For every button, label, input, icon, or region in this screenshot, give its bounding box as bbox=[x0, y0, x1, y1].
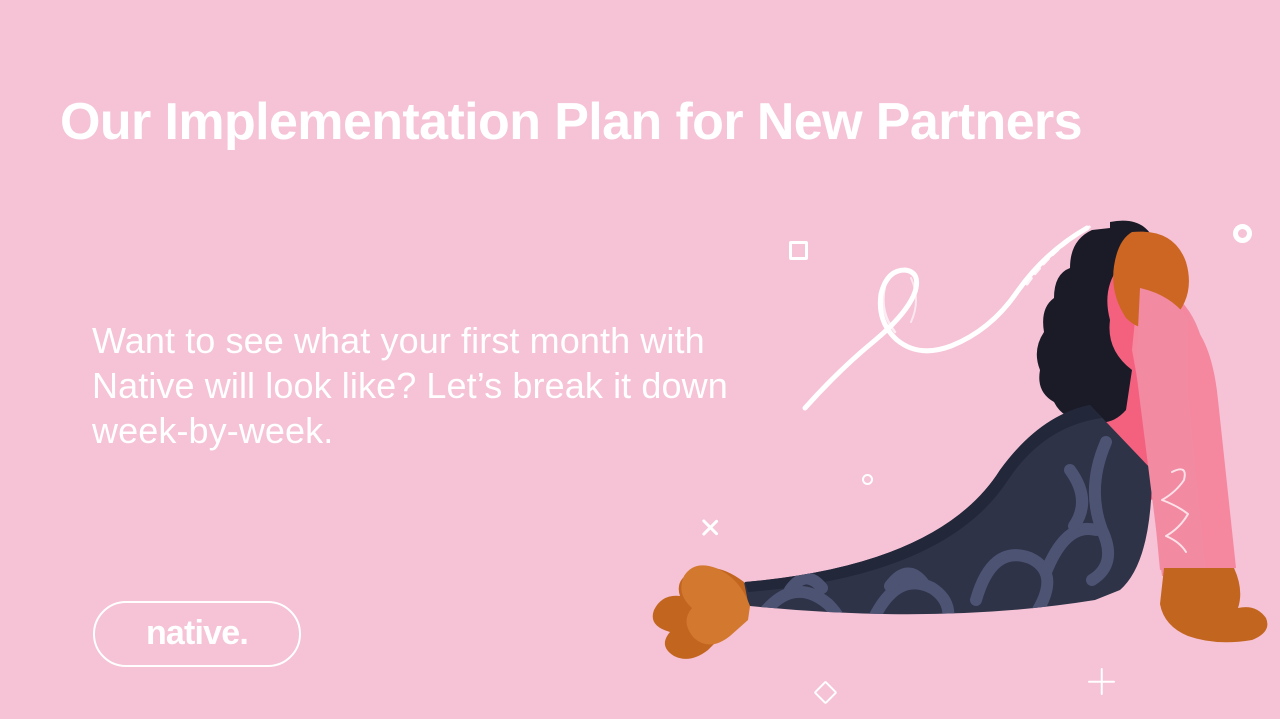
figure-front-arm bbox=[1136, 288, 1236, 576]
logo-text: native. bbox=[146, 616, 248, 653]
page-title: Our Implementation Plan for New Partners bbox=[60, 92, 1240, 152]
figure-pants bbox=[735, 405, 1152, 644]
brush-swirl-icon bbox=[795, 200, 1115, 415]
ring-large-icon bbox=[1233, 224, 1252, 243]
slide-root: Our Implementation Plan for New Partners… bbox=[0, 0, 1280, 719]
figure-feet bbox=[653, 565, 750, 659]
square-outline-icon bbox=[789, 241, 808, 260]
plus-mark-icon bbox=[1088, 668, 1115, 695]
figure-hand bbox=[1160, 568, 1267, 642]
x-mark-icon bbox=[699, 517, 720, 538]
ring-small-icon bbox=[862, 474, 873, 485]
native-logo-badge: native. bbox=[93, 601, 301, 667]
